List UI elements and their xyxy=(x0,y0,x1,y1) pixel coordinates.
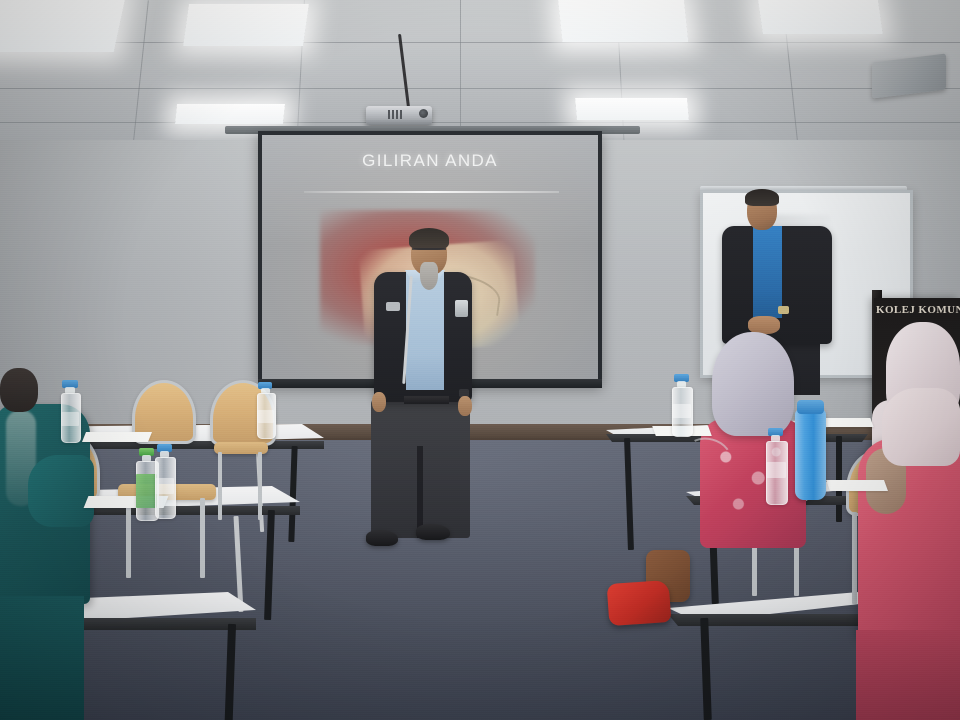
slide-divider-rule xyxy=(304,191,559,193)
ceiling-light-panel xyxy=(575,98,689,120)
banner-text: KOLEJ KOMUNITI JE xyxy=(876,304,960,316)
participant-left-head xyxy=(0,368,38,412)
presenter-shoe-right xyxy=(416,524,450,540)
presenter-hand-left xyxy=(372,392,386,412)
paper-sheet xyxy=(82,432,152,442)
ceiling-light-panel xyxy=(558,0,689,42)
participant-left-lower xyxy=(0,596,84,720)
presenter-jacket-patch xyxy=(386,302,400,311)
second-speaker-watch xyxy=(778,306,789,314)
presenter-belt xyxy=(404,396,449,404)
slide-title: GILIRAN ANDA xyxy=(262,151,598,171)
presenter-hand-right xyxy=(458,396,472,416)
ceiling-vent-unit xyxy=(872,53,946,98)
paper-sheet xyxy=(818,418,873,427)
pink-hijab-lower xyxy=(856,630,960,720)
blue-tumbler-cap xyxy=(797,400,824,414)
ceiling-light-panel xyxy=(757,0,883,34)
ceiling-light-panel xyxy=(0,0,126,52)
pink-hijab-headscarf xyxy=(882,388,960,466)
lavender-hijab-headscarf xyxy=(712,332,794,436)
ceiling-light-panel xyxy=(183,4,309,46)
blue-tumbler-bottle xyxy=(795,408,826,500)
second-speaker-hair xyxy=(745,189,779,206)
participant-left-arm xyxy=(28,455,94,527)
paper-sheet xyxy=(826,480,888,491)
presenter-shoe-left xyxy=(366,530,398,546)
presenter-hair xyxy=(409,228,449,250)
presenter-badge xyxy=(455,300,468,317)
photo-scene: GILIRAN ANDA KOLEJ KOMUNITI JE xyxy=(0,0,960,720)
ceiling-light-panel xyxy=(175,104,285,124)
ceiling-projector xyxy=(366,106,432,125)
projector-lens xyxy=(419,109,428,118)
second-speaker-shirt xyxy=(753,226,782,318)
red-bag xyxy=(607,580,672,626)
presenter-glasses xyxy=(412,248,446,258)
presenter-beard xyxy=(420,262,438,290)
